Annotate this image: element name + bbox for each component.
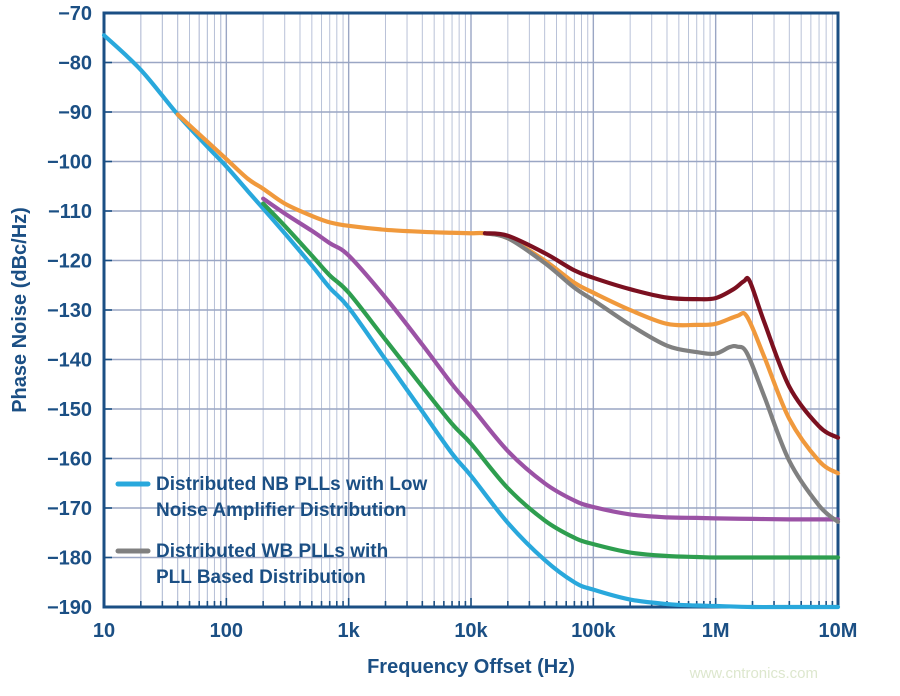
x-tick-label: 1M xyxy=(702,620,730,642)
y-tick-label: −160 xyxy=(47,449,92,471)
y-tick-label: −80 xyxy=(58,53,92,75)
y-tick-label: −110 xyxy=(48,201,92,223)
x-tick-label: 10k xyxy=(454,620,488,642)
y-tick-label: −180 xyxy=(47,548,92,570)
phase-noise-chart: −70−80−90−100−110−120−130−140−150−160−17… xyxy=(0,0,900,696)
legend-label-line1: Distributed NB PLLs with Low xyxy=(156,474,427,495)
y-tick-label: −170 xyxy=(47,498,92,520)
x-axis-title: Frequency Offset (Hz) xyxy=(367,656,575,678)
chart-background xyxy=(0,0,900,696)
legend-label-line2: PLL Based Distribution xyxy=(156,567,366,588)
x-tick-label: 10 xyxy=(93,620,115,642)
x-tick-label: 100k xyxy=(571,620,616,642)
legend-label-line2: Noise Amplifier Distribution xyxy=(156,500,407,521)
y-axis-title: Phase Noise (dBc/Hz) xyxy=(9,207,31,413)
y-tick-label: −100 xyxy=(47,152,92,174)
x-tick-label: 100 xyxy=(210,620,243,642)
y-tick-label: −150 xyxy=(47,399,92,421)
x-tick-label: 10M xyxy=(819,620,858,642)
legend-label-line1: Distributed WB PLLs with xyxy=(156,541,388,562)
y-tick-label: −90 xyxy=(58,102,92,124)
watermark-text: www.cntronics.com xyxy=(689,665,818,682)
y-tick-label: −120 xyxy=(47,251,92,273)
y-tick-label: −70 xyxy=(58,3,92,25)
y-tick-label: −190 xyxy=(47,597,92,619)
x-tick-label: 1k xyxy=(338,620,361,642)
y-tick-label: −140 xyxy=(47,350,92,372)
y-tick-label: −130 xyxy=(47,300,92,322)
